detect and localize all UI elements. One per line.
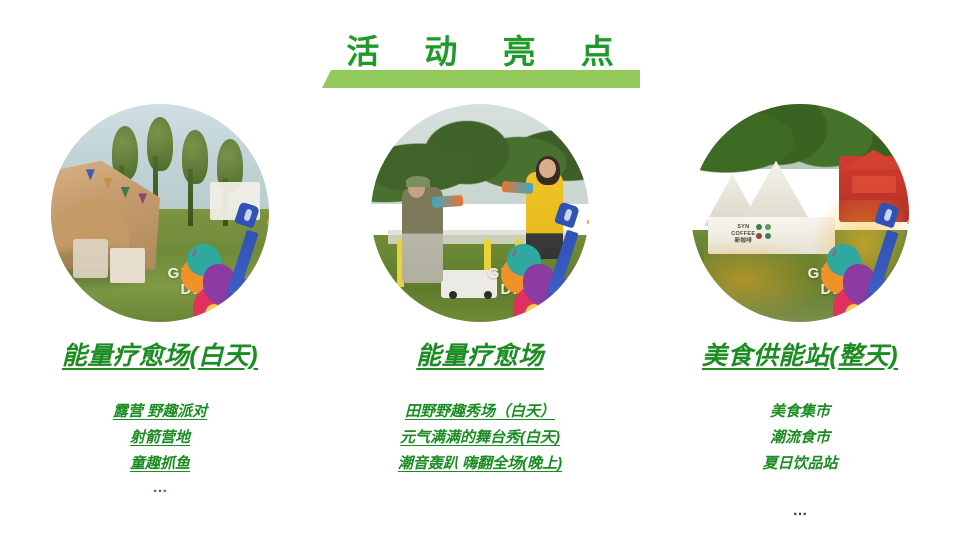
list-item: 潮音轰趴 嗨翻全场(晚上) [320,451,640,477]
watergun-photo: GUITAR DIY ♪ [371,104,589,322]
title-underline-banner [322,70,640,88]
column-energy-healing-day: GUITAR DIY ♪ [0,104,320,540]
page-title: 活 动 亮 点 [0,32,960,72]
column-heading: 美食供能站(整天) [640,336,960,372]
highlight-columns: GUITAR DIY ♪ [0,104,960,540]
list-item: 田野野趣秀场（白天） [320,399,640,425]
list-item: 童趣抓鱼 [0,451,320,477]
column-item-list: 露营 野趣派对 射箭营地 童趣抓鱼 [0,399,320,477]
guitar-illustration-icon: ♪ ♫ [179,206,269,322]
list-item: 露营 野趣派对 [0,399,320,425]
column-heading: 能量疗愈场(白天) [0,336,320,372]
list-item: 潮流食市 [640,425,960,451]
camping-photo: GUITAR DIY ♪ [51,104,269,322]
list-item: 夏日饮品站 [640,451,960,477]
guitar-illustration-icon: ♪ ♫ [819,206,909,322]
column-food-energy-station: SYN COFFEE 新咖啡 GUITAR DIY [640,104,960,540]
column-heading: 能量疗愈场 [320,336,640,372]
column-ellipsis: … [640,502,960,520]
list-item: 元气满满的舞台秀(白天) [320,425,640,451]
list-item: 射箭营地 [0,425,320,451]
photo-circle-foodmarket: SYN COFFEE 新咖啡 GUITAR DIY [691,104,909,322]
photo-circle-watergun: GUITAR DIY ♪ [371,104,589,322]
photo-circle-camping: GUITAR DIY ♪ [51,104,269,322]
column-ellipsis: … [0,479,320,497]
slide-root: 活 动 亮 点 [0,0,960,540]
foodmarket-photo: SYN COFFEE 新咖啡 GUITAR DIY [691,104,909,322]
slide-title-area: 活 动 亮 点 [0,18,960,78]
column-energy-healing: GUITAR DIY ♪ [320,104,640,540]
list-item: 美食集市 [640,399,960,425]
column-item-list: 美食集市 潮流食市 夏日饮品站 [640,399,960,477]
column-item-list: 田野野趣秀场（白天） 元气满满的舞台秀(白天) 潮音轰趴 嗨翻全场(晚上) [320,399,640,477]
guitar-illustration-icon: ♪ ♫ [499,206,589,322]
